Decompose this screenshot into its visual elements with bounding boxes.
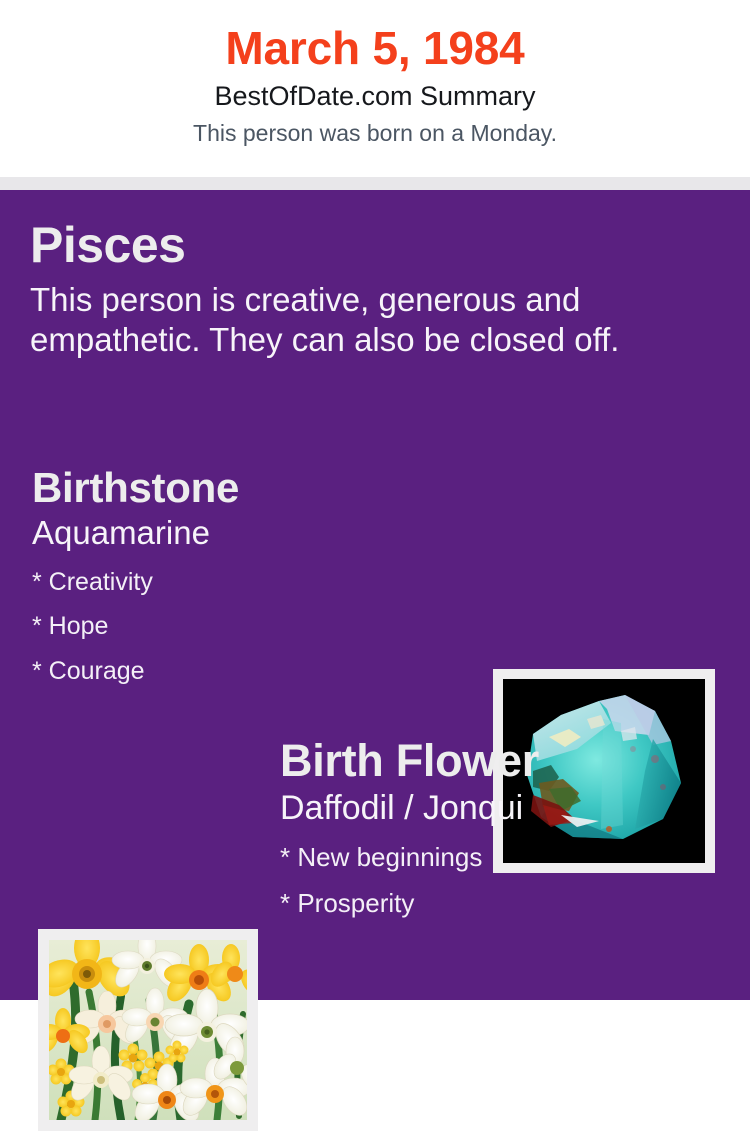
birthstone-name: Aquamarine bbox=[32, 515, 472, 552]
birth-flower-section: Birth Flower Daffodil / Jonqui * New beg… bbox=[280, 738, 740, 927]
site-name: BestOfDate.com Summary bbox=[0, 80, 750, 114]
birth-flower-name: Daffodil / Jonqui bbox=[280, 789, 740, 827]
birth-flower-traits-list: * New beginnings * Prosperity bbox=[280, 835, 740, 927]
zodiac-section: Pisces This person is creative, generous… bbox=[30, 220, 720, 361]
header-divider bbox=[0, 177, 750, 190]
list-item: * Creativity bbox=[32, 560, 472, 605]
zodiac-sign-name: Pisces bbox=[30, 220, 720, 270]
list-item: * Prosperity bbox=[280, 881, 740, 927]
list-item: * New beginnings bbox=[280, 835, 740, 881]
birthstone-section: Birthstone Aquamarine * Creativity * Hop… bbox=[32, 467, 472, 693]
birthstone-title: Birthstone bbox=[32, 467, 472, 509]
birth-flower-image-frame bbox=[38, 929, 258, 1131]
zodiac-description: This person is creative, generous and em… bbox=[30, 280, 700, 361]
list-item: * Hope bbox=[32, 604, 472, 649]
page-title-date: March 5, 1984 bbox=[0, 24, 750, 72]
page-header: March 5, 1984 BestOfDate.com Summary Thi… bbox=[0, 0, 750, 177]
list-item: * Courage bbox=[32, 649, 472, 694]
summary-panel: Pisces This person is creative, generous… bbox=[0, 190, 750, 1000]
birth-flower-title: Birth Flower bbox=[280, 738, 740, 783]
birthstone-traits-list: * Creativity * Hope * Courage bbox=[32, 560, 472, 694]
daffodil-field-icon bbox=[49, 940, 247, 1120]
born-day-text: This person was born on a Monday. bbox=[0, 119, 750, 148]
daffodil-flowers-image bbox=[49, 940, 247, 1120]
